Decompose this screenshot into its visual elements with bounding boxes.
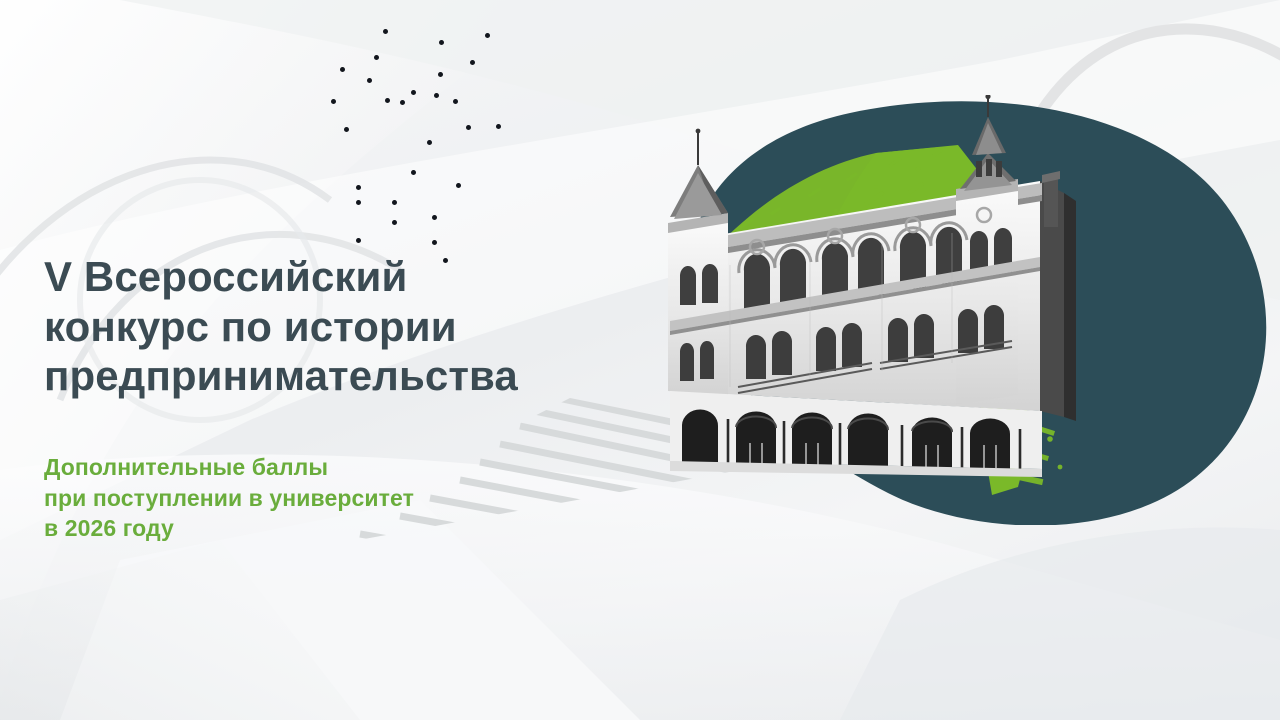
decorative-dot: [356, 200, 361, 205]
decorative-dot: [470, 60, 475, 65]
decorative-dot: [466, 125, 471, 130]
presentation-slide: V Всероссийский конкурс по истории предп…: [0, 0, 1280, 720]
page-title: V Всероссийский конкурс по истории предп…: [44, 252, 664, 401]
decorative-dot: [434, 93, 439, 98]
decorative-dot: [432, 240, 437, 245]
decorative-dot: [331, 99, 336, 104]
decorative-dot: [427, 140, 432, 145]
decorative-dot: [411, 90, 416, 95]
decorative-dot: [400, 100, 405, 105]
decorative-dot: [439, 40, 444, 45]
decorative-dot: [367, 78, 372, 83]
decorative-dot: [383, 29, 388, 34]
decorative-dot: [485, 33, 490, 38]
decorative-dot: [374, 55, 379, 60]
title-block: V Всероссийский конкурс по истории предп…: [44, 252, 664, 401]
decorative-dot: [496, 124, 501, 129]
decorative-dot: [356, 185, 361, 190]
decorative-dot: [340, 67, 345, 72]
decorative-dot: [356, 238, 361, 243]
decorative-dot: [438, 72, 443, 77]
decorative-dot: [453, 99, 458, 104]
decorative-dot: [432, 215, 437, 220]
subtitle-text: Дополнительные баллы при поступлении в у…: [44, 452, 664, 544]
artwork-group: [640, 95, 1280, 525]
decorative-dot: [385, 98, 390, 103]
decorative-dot: [456, 183, 461, 188]
decorative-dot: [392, 200, 397, 205]
decorative-dot: [411, 170, 416, 175]
decorative-dot: [392, 220, 397, 225]
decorative-dot: [344, 127, 349, 132]
